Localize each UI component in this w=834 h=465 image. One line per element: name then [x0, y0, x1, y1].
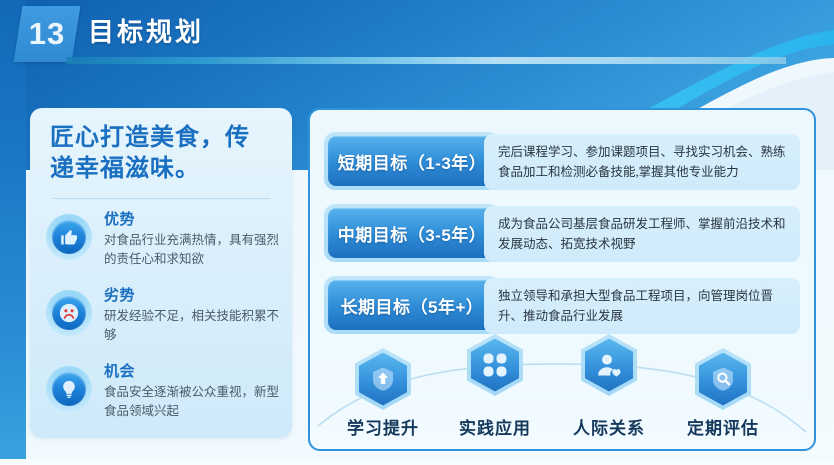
- step-label: 人际关系: [554, 414, 664, 439]
- swot-divider: [52, 198, 270, 199]
- goal-badge-label: 短期目标（1-3年）: [328, 136, 496, 186]
- step-label: 实践应用: [440, 414, 550, 439]
- step-item[interactable]: 定期评估: [668, 348, 778, 449]
- slide-canvas: 13 目标规划 匠心打造美食，传递幸福滋味。 优势 对食品行业充满热情，具有强烈…: [0, 0, 834, 465]
- goal-description: 独立领导和承担大型食品工程项目，向管理岗位晋升、推动食品行业发展: [484, 278, 800, 334]
- header-rule: [66, 57, 786, 64]
- swot-card: 匠心打造美食，传递幸福滋味。 优势 对食品行业充满热情，具有强烈的责任心和求知欲: [30, 108, 292, 438]
- step-item[interactable]: 实践应用: [440, 334, 550, 435]
- goal-badge-label: 长期目标（5年+）: [328, 280, 496, 330]
- goal-row[interactable]: 长期目标（5年+） 独立领导和承担大型食品工程项目，向管理岗位晋升、推动食品行业…: [324, 276, 802, 338]
- left-accent-strip: [0, 0, 26, 465]
- goal-description: 成为食品公司基层食品研发工程师、掌握前沿技术和发展动态、拓宽技术视野: [484, 206, 800, 262]
- thumbs-up-icon: [46, 214, 92, 260]
- goal-badge[interactable]: 中期目标（3-5年）: [324, 204, 500, 262]
- goal-row[interactable]: 中期目标（3-5年） 成为食品公司基层食品研发工程师、掌握前沿技术和发展动态、拓…: [324, 204, 802, 266]
- slide-number: 13: [18, 6, 76, 62]
- goal-row[interactable]: 短期目标（1-3年） 完后课程学习、参加课题项目、寻找实习机会、熟练食品加工和检…: [324, 132, 802, 194]
- goal-badge-label: 中期目标（3-5年）: [328, 208, 496, 258]
- slide-number-badge: 13: [14, 6, 81, 62]
- step-item[interactable]: 学习提升: [328, 348, 438, 449]
- clover-icon: [467, 334, 523, 396]
- goal-plan-panel: 短期目标（1-3年） 完后课程学习、参加课题项目、寻找实习机会、熟练食品加工和检…: [308, 108, 816, 451]
- arrow-up-shield-icon: [355, 348, 411, 410]
- list-item-desc: 研发经验不足，相关技能积累不够: [104, 307, 284, 345]
- step-label: 定期评估: [668, 414, 778, 439]
- shield-search-icon: [695, 348, 751, 410]
- page-title: 目标规划: [88, 12, 204, 49]
- swot-heading: 匠心打造美食，传递幸福滋味。: [50, 122, 274, 184]
- step-label: 学习提升: [328, 414, 438, 439]
- goal-badge[interactable]: 短期目标（1-3年）: [324, 132, 500, 190]
- step-item[interactable]: 人际关系: [554, 334, 664, 435]
- list-item-title: 机会: [104, 360, 284, 381]
- list-item-title: 优势: [104, 208, 284, 229]
- list-item-desc: 食品安全逐渐被公众重视，新型食品领域兴起: [104, 383, 284, 421]
- lightbulb-icon: [46, 366, 92, 412]
- bottom-edge-strip: [0, 459, 834, 465]
- sad-face-icon: [46, 290, 92, 336]
- goal-badge[interactable]: 长期目标（5年+）: [324, 276, 500, 334]
- list-item-title: 劣势: [104, 284, 284, 305]
- goal-description: 完后课程学习、参加课题项目、寻找实习机会、熟练食品加工和检测必备技能,掌握其他专…: [484, 134, 800, 190]
- action-steps-row: 学习提升 实践应用: [310, 348, 814, 449]
- list-item-desc: 对食品行业充满热情，具有强烈的责任心和求知欲: [104, 231, 284, 269]
- person-heart-icon: [581, 334, 637, 396]
